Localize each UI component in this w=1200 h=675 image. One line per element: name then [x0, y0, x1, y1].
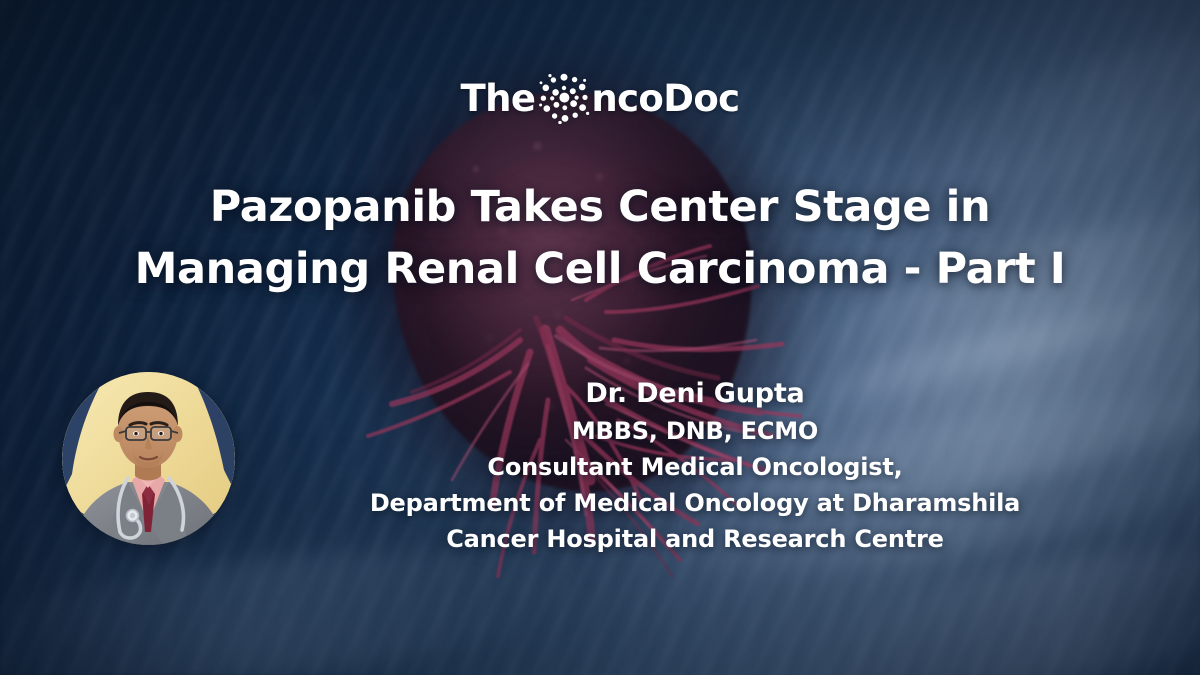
speaker-affiliation-line1: Department of Medical Oncology at Dharam…	[250, 485, 1140, 521]
cell-cluster-icon	[538, 72, 590, 124]
speaker-qualifications: MBBS, DNB, ECMO	[250, 413, 1140, 449]
brand-logo[interactable]: The	[0, 72, 1200, 124]
speaker-credentials: Dr. Deni Gupta MBBS, DNB, ECMO Consultan…	[250, 375, 1140, 557]
speaker-name: Dr. Deni Gupta	[250, 375, 1140, 413]
page-title-line-2: Managing Renal Cell Carcinoma - Part I	[60, 238, 1140, 300]
brand-logo-text-oncodoc: ncoDoc	[591, 80, 739, 117]
brand-logo-text-the: The	[460, 80, 535, 117]
page-title-line-1: Pazopanib Takes Center Stage in	[60, 176, 1140, 238]
speaker-affiliation-line2: Cancer Hospital and Research Centre	[250, 521, 1140, 557]
avatar	[62, 372, 235, 545]
slide-canvas: The	[0, 0, 1200, 675]
speaker-title: Consultant Medical Oncologist,	[250, 449, 1140, 485]
page-title: Pazopanib Takes Center Stage in Managing…	[60, 176, 1140, 300]
speaker-portrait-illustration	[62, 372, 235, 545]
slide-content: The	[0, 0, 1200, 675]
